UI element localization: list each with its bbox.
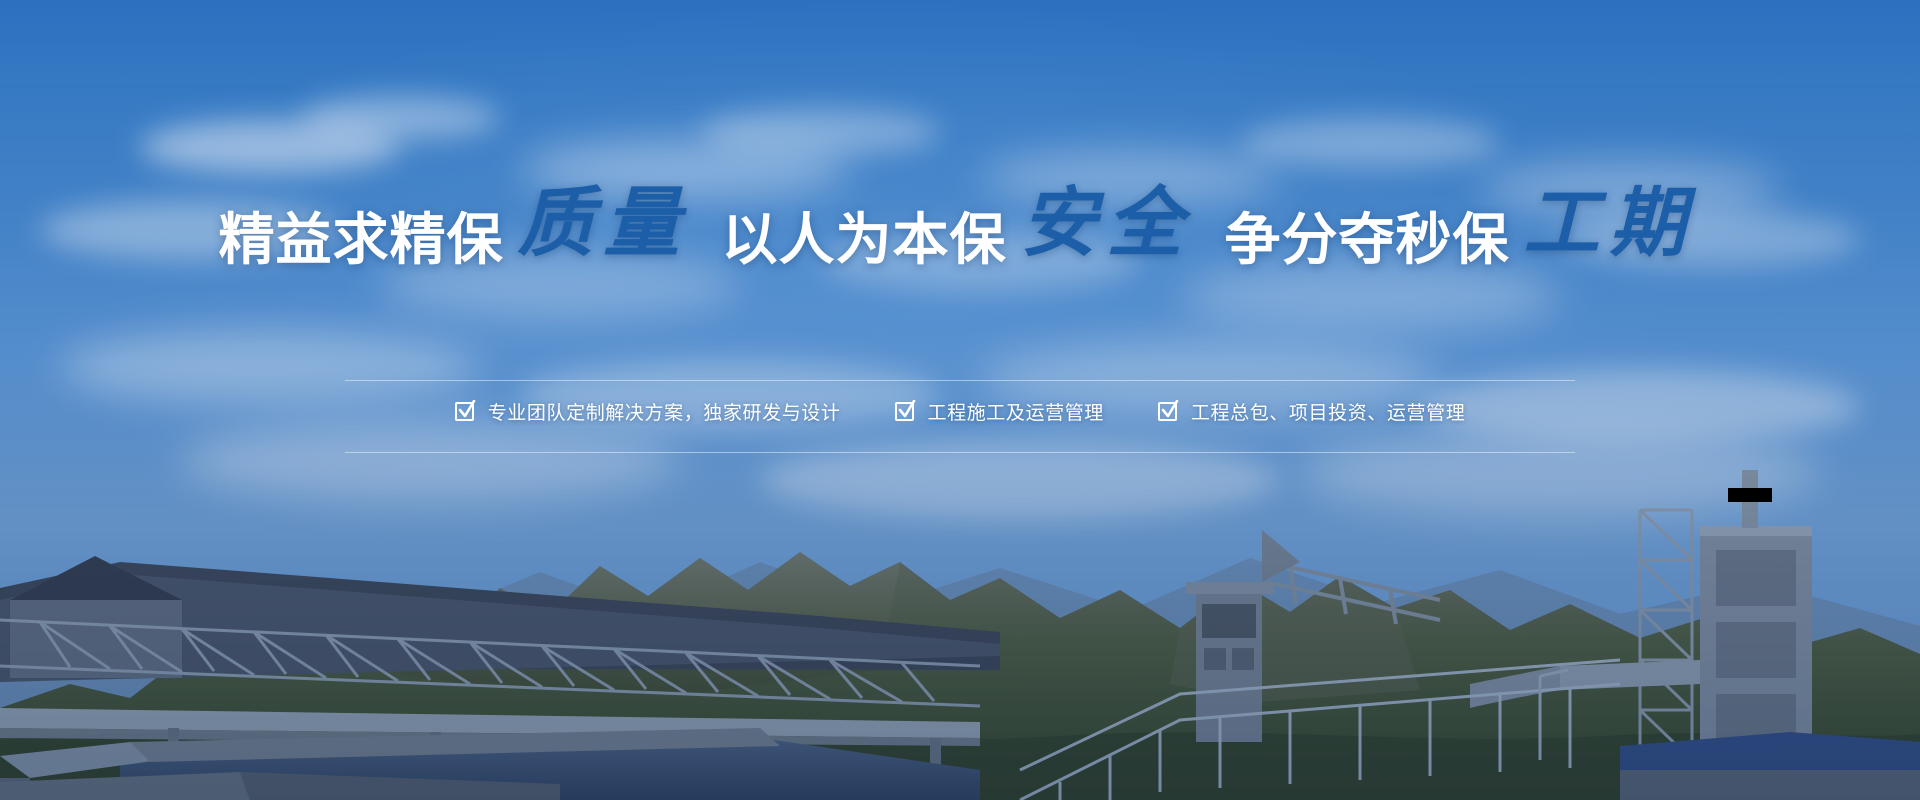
feature-item-2-label: 工程施工及运营管理 xyxy=(928,398,1104,425)
divider-top xyxy=(345,380,1575,381)
feature-item-1-label: 专业团队定制解决方案，独家研发与设计 xyxy=(488,398,841,425)
headline-segment-brush-safety: 安全 xyxy=(1007,186,1199,262)
headline-segment-brush-schedule: 工期 xyxy=(1510,186,1702,262)
feature-item-2: 工程施工及运营管理 xyxy=(895,398,1104,425)
divider-bottom xyxy=(345,452,1575,453)
checkbox-checked-icon xyxy=(1158,402,1177,421)
feature-list: 专业团队定制解决方案，独家研发与设计 工程施工及运营管理 工程总包、项目投资、运… xyxy=(0,398,1920,425)
feature-item-3: 工程总包、项目投资、运营管理 xyxy=(1158,398,1465,425)
headline-segment-plain-3: 争分夺秒保 xyxy=(1225,212,1510,268)
headline: 精益求精保质量以人为本保安全争分夺秒保工期 xyxy=(0,196,1920,272)
headline-segment-brush-quality: 质量 xyxy=(504,186,696,262)
headline-segment-plain-2: 以人为本保 xyxy=(722,212,1007,268)
banner-text-overlay: 精益求精保质量以人为本保安全争分夺秒保工期 专业团队定制解决方案，独家研发与设计 xyxy=(0,0,1920,800)
checkbox-checked-icon xyxy=(455,402,474,421)
checkbox-checked-icon xyxy=(895,402,914,421)
feature-item-1: 专业团队定制解决方案，独家研发与设计 xyxy=(455,398,841,425)
hero-banner: 精益求精保质量以人为本保安全争分夺秒保工期 专业团队定制解决方案，独家研发与设计 xyxy=(0,0,1920,800)
headline-segment-plain-1: 精益求精保 xyxy=(219,212,504,268)
feature-item-3-label: 工程总包、项目投资、运营管理 xyxy=(1191,398,1465,425)
